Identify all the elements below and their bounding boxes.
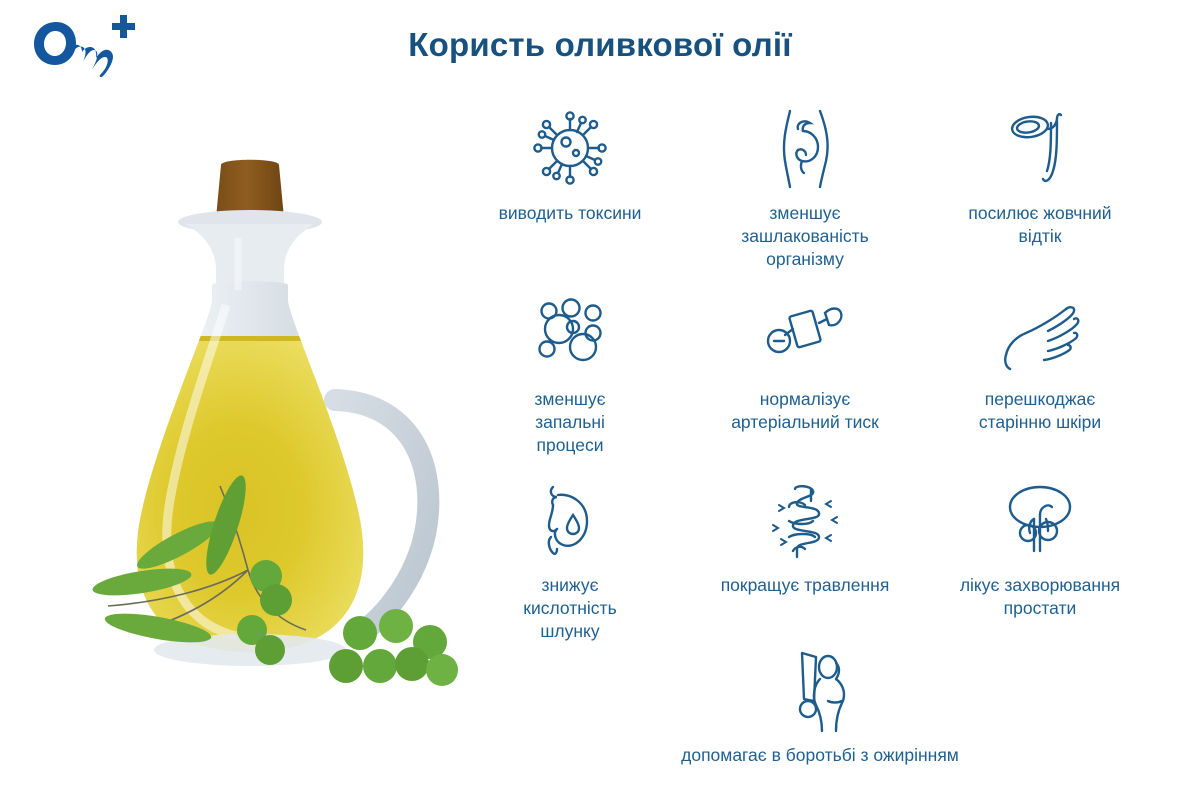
- blood-pressure-icon: [755, 286, 855, 382]
- benefits-grid: виводить токсини зменшує зашлакованість …: [450, 100, 1190, 660]
- benefit-label: виводить токсини: [455, 202, 685, 225]
- benefit-label: зменшує запальні процеси: [455, 388, 685, 457]
- benefit-label: зменшує зашлакованість організму: [690, 202, 920, 271]
- benefit-item-digestion[interactable]: покращує травлення: [685, 472, 925, 597]
- stomach-acid-icon: [525, 472, 615, 568]
- benefit-label: посилює жовчний відтік: [925, 202, 1155, 248]
- benefit-label: покращує травлення: [690, 574, 920, 597]
- benefit-item-bile-flow[interactable]: посилює жовчний відтік: [920, 100, 1160, 248]
- benefit-label: перешкоджає старінню шкіри: [925, 388, 1155, 434]
- benefit-label: знижує кислотність шлунку: [455, 574, 685, 643]
- benefit-label: нормалізує артеріальний тиск: [690, 388, 920, 434]
- benefit-item-prostate[interactable]: лікує захворювання простати: [920, 472, 1160, 620]
- benefit-item-stomach-acidity[interactable]: знижує кислотність шлунку: [450, 472, 690, 643]
- hand-skin-icon: [990, 286, 1090, 382]
- benefit-item-toxins[interactable]: виводить токсини: [450, 100, 690, 225]
- benefit-item-obesity[interactable]: допомагає в боротьбі з ожирінням: [630, 642, 1010, 767]
- benefit-item-blood-pressure[interactable]: нормалізує артеріальний тиск: [685, 286, 925, 434]
- benefit-item-detox-body[interactable]: зменшує зашлакованість організму: [685, 100, 925, 271]
- benefit-label: лікує захворювання простати: [925, 574, 1155, 620]
- benefit-item-skin-aging[interactable]: перешкоджає старінню шкіри: [920, 286, 1160, 434]
- obesity-body-icon: [770, 642, 870, 738]
- cork-stopper: [216, 160, 284, 218]
- molecule-cells-icon: [525, 286, 615, 382]
- logo-mark: [26, 14, 136, 80]
- page-title: Користь оливкової олії: [300, 26, 900, 64]
- benefit-item-inflammation[interactable]: зменшує запальні процеси: [450, 286, 690, 457]
- benefit-label: допомагає в боротьбі з ожирінням: [630, 744, 1010, 767]
- torso-stomach-icon: [760, 100, 850, 196]
- intestines-icon: [755, 472, 855, 568]
- prostate-icon: [990, 472, 1090, 568]
- toxin-virus-icon: [525, 100, 615, 196]
- gallbladder-icon: [995, 100, 1085, 196]
- on-clinic-logo[interactable]: [26, 14, 136, 80]
- infographic-page: Користь оливкової олії: [0, 0, 1200, 800]
- olive-oil-bottle-illustration: [40, 130, 460, 700]
